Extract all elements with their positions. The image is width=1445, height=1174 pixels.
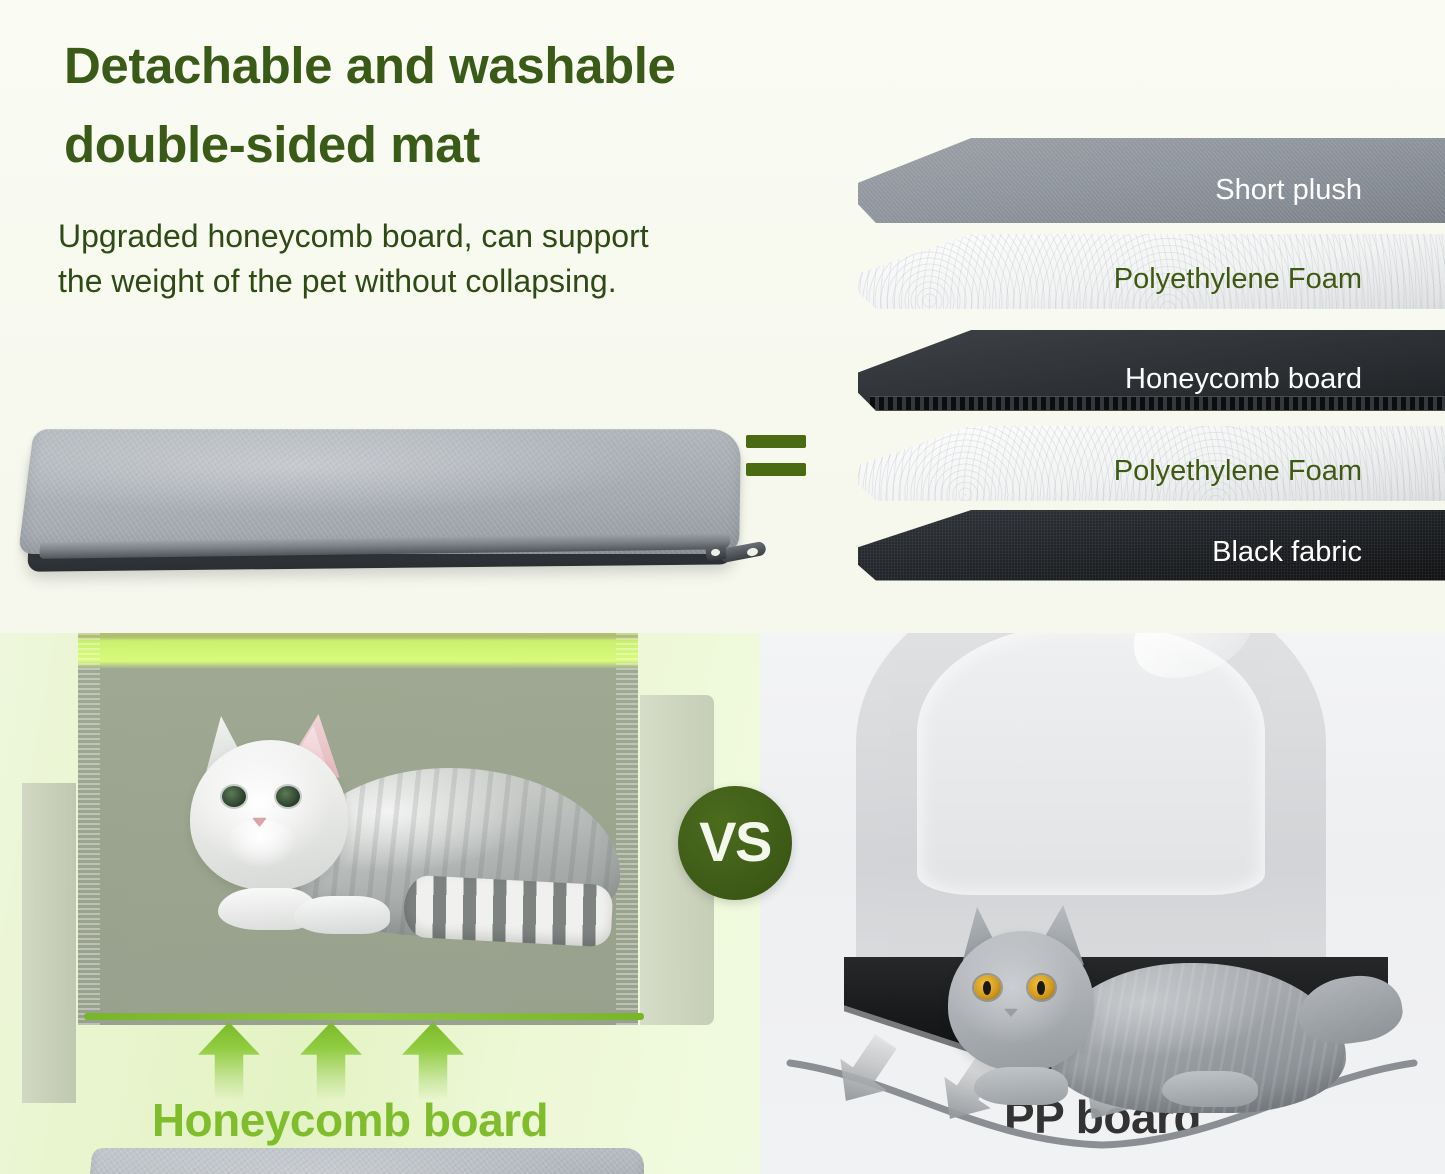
white-cat-illustration [168, 712, 620, 970]
equals-bar-bottom [746, 463, 806, 476]
gray-cat-pupil-left [983, 981, 991, 995]
comparison-panel-pp [760, 633, 1445, 1174]
layer-label-honeycomb: Honeycomb board [1125, 363, 1445, 396]
comparison-section: VS Honeycomb board PP board [0, 633, 1445, 1174]
subtitle-line-1: Upgraded honeycomb board, can support [58, 214, 818, 259]
top-feature-section: Detachable and washable double-sided mat… [0, 0, 1445, 633]
carrier-side-flap-left [22, 783, 76, 1103]
layer-honeycomb-board: Honeycomb board [858, 330, 1445, 442]
honeycomb-corrugation-icon [870, 396, 1445, 411]
white-cat-muzzle [226, 820, 296, 868]
headline-block: Detachable and washable double-sided mat [60, 36, 880, 194]
white-cat-eye-right [276, 786, 300, 807]
equals-sign-icon [746, 435, 808, 477]
gray-cat-head [948, 931, 1094, 1071]
layer-label-foam-top: Polyethylene Foam [1114, 263, 1445, 296]
vs-badge-label: VS [699, 814, 771, 870]
layer-polyethylene-foam-top: Polyethylene Foam [858, 234, 1445, 338]
layer-stack-diagram: Short plush Polyethylene Foam Honeycomb … [858, 138, 1445, 578]
white-cat-eye-left [222, 786, 246, 807]
layer-label-black-fabric: Black fabric [1212, 536, 1445, 569]
headline-line-2-text: double-sided mat [64, 116, 480, 173]
support-baseline-left [84, 1013, 644, 1020]
gray-cat-pupil-right [1037, 981, 1045, 995]
infographic-page: Detachable and washable double-sided mat… [0, 0, 1445, 1174]
gray-cat-illustration [930, 905, 1400, 1135]
zipper-pull-icon [706, 540, 768, 570]
layer-label-foam-bottom: Polyethylene Foam [1114, 455, 1445, 488]
headline-line-2: double-sided mat [60, 115, 486, 180]
gray-cat-paw-left [974, 1067, 1068, 1105]
subtitle-block: Upgraded honeycomb board, can support th… [58, 214, 818, 305]
zipper-tab [719, 541, 767, 564]
subtitle-line-2: the weight of the pet without collapsing… [58, 259, 818, 304]
label-honeycomb-board: Honeycomb board [0, 1093, 700, 1147]
gray-cat-paw-right [1162, 1071, 1258, 1107]
white-cat-head [190, 740, 348, 890]
plush-mat-photo [16, 410, 756, 585]
white-cat-tail [403, 875, 614, 948]
headline-line-1-text: Detachable and washable [64, 37, 676, 94]
vs-badge: VS [678, 786, 792, 900]
headline-line-1: Detachable and washable [60, 36, 682, 101]
white-cat-paw-right [294, 896, 390, 934]
mat-plush-top [83, 1148, 644, 1174]
equals-bar-top [746, 435, 806, 448]
layer-label-short-plush: Short plush [1215, 174, 1445, 207]
layer-black-fabric: Black fabric [858, 510, 1445, 608]
